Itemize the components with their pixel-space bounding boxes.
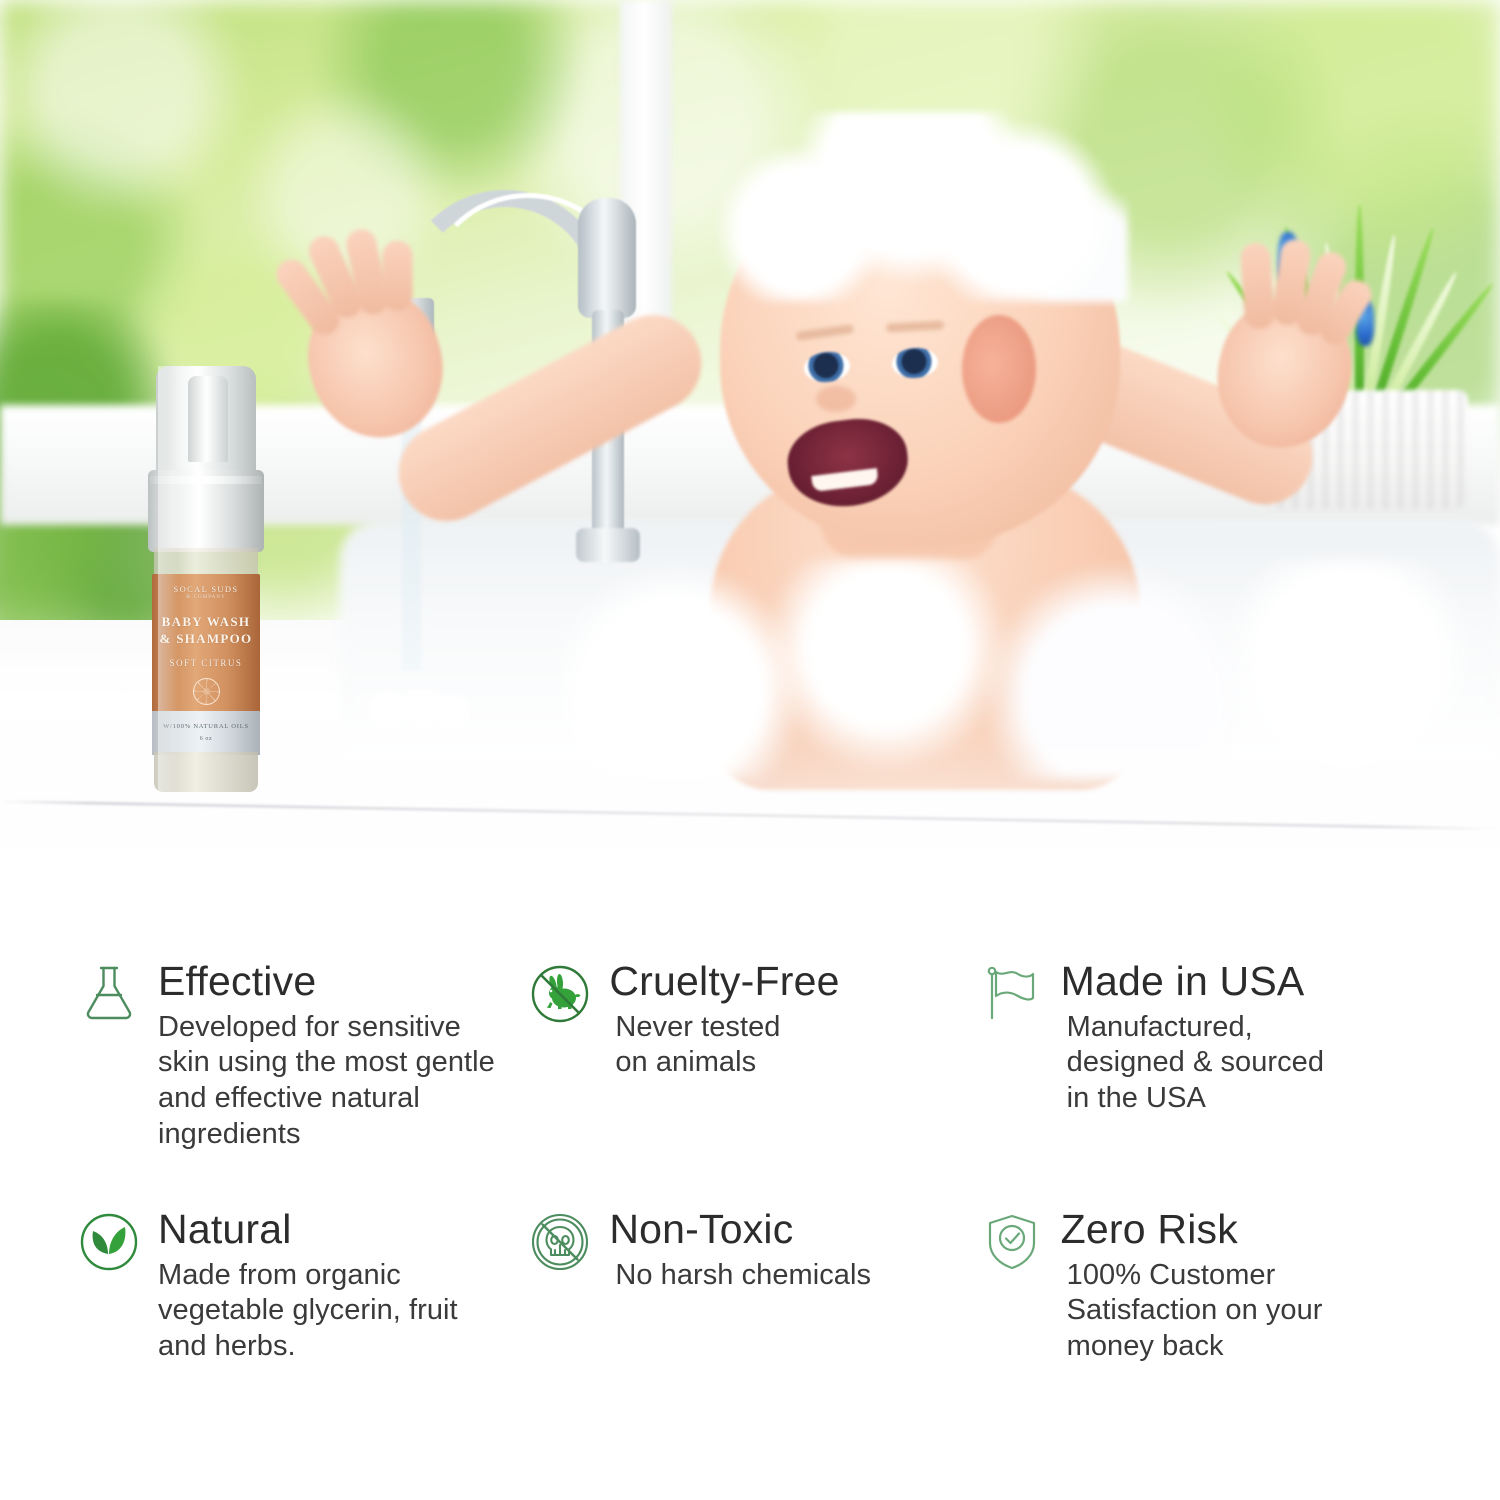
feature-title: Non-Toxic [609,1208,970,1251]
hero-photo: SOCAL SUDS & COMPANY BABY WASH & SHAMPOO… [0,0,1500,940]
label-scent: SOFT CITRUS [152,658,260,668]
product-bottle: SOCAL SUDS & COMPANY BABY WASH & SHAMPOO… [148,366,264,756]
feature-desc: No harsh chemicals [609,1258,970,1294]
feature-title: Made in USA [1061,960,1422,1003]
baby-nose [816,386,856,412]
label-company: & COMPANY [152,595,260,600]
no-rabbit-icon [529,960,591,1022]
feature-title: Zero Risk [1061,1208,1422,1251]
feature-title: Effective [158,960,519,1003]
feature-text: Made in USA Manufactured, designed & sou… [1061,960,1422,1208]
flask-icon [78,960,140,1022]
feature-non-toxic: Non-Toxic No harsh chemicals [529,1208,970,1456]
feature-desc: Made from organic vegetable glycerin, fr… [158,1258,519,1365]
shield-check-icon [981,1208,1043,1270]
pump-collar-highlight [150,476,262,484]
feature-title: Natural [158,1208,519,1251]
bottle-label: SOCAL SUDS & COMPANY BABY WASH & SHAMPOO… [152,574,260,719]
feature-text: Cruelty-Free Never tested on animals [609,960,970,1208]
feature-made-in-usa: Made in USA Manufactured, designed & sou… [981,960,1422,1208]
feature-text: Zero Risk 100% Customer Satisfaction on … [1061,1208,1422,1456]
baby-ear [962,315,1036,423]
feature-text: Effective Developed for sensitive skin u… [158,960,519,1208]
pump-cap-inner [188,376,228,462]
no-skull-icon [529,1208,591,1270]
flag-icon [981,960,1043,1022]
feature-effective: Effective Developed for sensitive skin u… [78,960,519,1208]
soap-foam-on-head [708,112,1128,302]
citrus-slice-emblem-icon [193,678,220,705]
label-brand: SOCAL SUDS [152,584,260,594]
feature-desc: Never tested on animals [609,1010,970,1081]
label-size: 6 oz [152,736,260,742]
feature-desc: 100% Customer Satisfaction on your money… [1061,1258,1422,1365]
feature-natural: Natural Made from organic vegetable glyc… [78,1208,519,1456]
feature-desc: Developed for sensitive skin using the m… [158,1010,519,1153]
label-natural-oils-claim: W/100% NATURAL OILS [152,723,260,730]
label-product-line1: BABY WASH [152,614,260,630]
pump-cap [156,366,256,474]
feature-grid: Effective Developed for sensitive skin u… [0,960,1500,1500]
bottle-base [154,752,258,792]
feature-desc: Manufactured, designed & sourced in the … [1061,1010,1422,1117]
bottle-label-band: W/100% NATURAL OILS 6 oz [152,711,260,755]
leaves-icon [78,1208,140,1270]
feature-cruelty-free: Cruelty-Free Never tested on animals [529,960,970,1208]
feature-zero-risk: Zero Risk 100% Customer Satisfaction on … [981,1208,1422,1456]
feature-text: Non-Toxic No harsh chemicals [609,1208,970,1456]
label-product-line2: & SHAMPOO [152,631,260,647]
feature-text: Natural Made from organic vegetable glyc… [158,1208,519,1456]
feature-title: Cruelty-Free [609,960,970,1003]
